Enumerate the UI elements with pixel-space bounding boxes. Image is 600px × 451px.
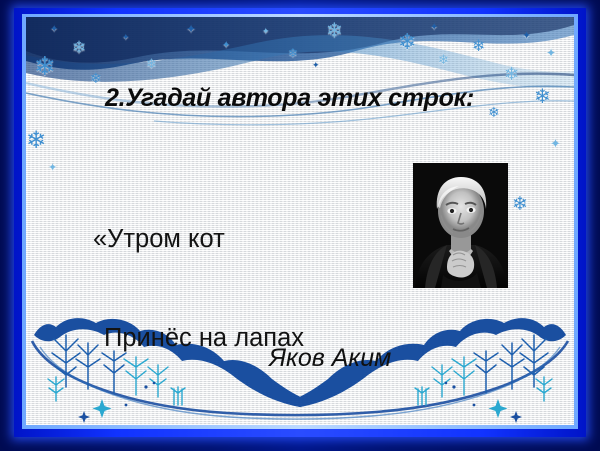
author-name: Яков Аким [269,344,391,373]
slide-canvas: ❄ ❄ ✦ ❄ ❄ ✦ ✦ ❄ ✦ ✦ ✦ ❄ ❄ ✦ ❄ ❄ ✦ ❄ ❄ ❄ … [26,17,574,425]
snowflake-icon: ✦ [262,27,270,36]
poem-line: Первый снег! [93,421,304,425]
snowflake-icon: ❄ [146,57,157,70]
snowflake-icon: ❄ [288,47,298,59]
snowflake-icon: ✦ [312,61,320,70]
poem-line: «Утром кот [93,223,304,256]
snowflake-icon: ❄ [326,21,343,41]
portrait-photo [413,163,508,288]
snowflake-icon: ❄ [488,105,500,119]
snowflake-icon: ❄ [512,195,528,214]
snowflake-icon: ✦ [122,33,130,42]
snowflake-icon: ❄ [34,53,56,79]
snowflake-icon: ✦ [50,25,58,35]
snowflake-icon: ✦ [48,163,57,174]
snowflake-icon: ✦ [522,31,531,42]
snowflake-icon: ✦ [222,41,230,51]
snowflake-icon: ❄ [534,87,551,107]
snowflake-icon: ❄ [472,39,485,55]
snowflake-icon: ❄ [438,53,449,66]
page-title: 2.Угадай автора этих строк: [105,84,474,113]
snowflake-icon: ❄ [90,71,102,85]
snowflake-icon: ✦ [430,23,438,33]
snowflake-icon: ❄ [398,31,416,53]
presentation-slide: ❄ ❄ ✦ ❄ ❄ ✦ ✦ ❄ ✦ ✦ ✦ ❄ ❄ ✦ ❄ ❄ ✦ ❄ ❄ ❄ … [0,0,600,451]
snowflake-icon: ❄ [72,39,86,56]
snowflake-icon: ✦ [546,47,556,59]
snowflake-icon: ✦ [550,137,561,150]
poem-text: «Утром кот Принёс на лапах Первый снег! … [93,157,304,425]
snowflake-icon: ❄ [504,65,519,83]
snowflake-icon: ✦ [186,23,196,35]
snowflake-icon: ❄ [26,129,46,153]
